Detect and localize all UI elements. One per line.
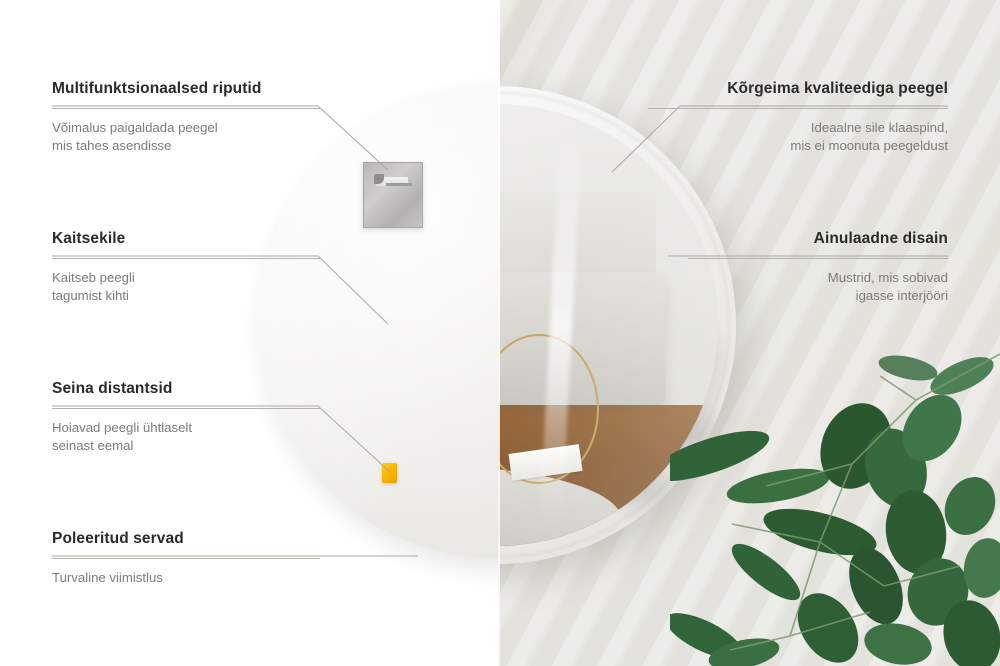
half-split-divider [498,0,500,666]
callout-body: Kaitseb peegli tagumist kihti [52,269,320,306]
callout-title: Multifunktsionaalsed riputid [52,80,320,99]
callout-ainulaadne-disain: Ainulaadne disain Mustrid, mis sobivad i… [688,230,948,306]
callout-body: Mustrid, mis sobivad igasse interjööri [688,269,948,306]
callout-multifunktsionaalsed-riputid: Multifunktsionaalsed riputid Võimalus pa… [52,80,320,156]
callout-body: Turvaline viimistlus [52,569,320,588]
infographic-canvas: Multifunktsionaalsed riputid Võimalus pa… [0,0,1000,666]
callout-title: Kõrgeima kvaliteediga peegel [648,80,948,99]
yellow-wall-spacer [382,463,397,483]
callout-korgeima-kvaliteediga-peegel: Kõrgeima kvaliteediga peegel Ideaalne si… [648,80,948,156]
callout-rule [52,258,320,259]
callout-body: Ideaalne sile klaaspind, mis ei moonuta … [648,119,948,156]
callout-rule [648,108,948,109]
mirror-back-sheen [258,86,498,558]
callout-poleeritud-servad: Poleeritud servad Turvaline viimistlus [52,530,320,587]
foliage-decoration [670,336,1000,666]
callout-seina-distantsid: Seina distantsid Hoiavad peegli ühtlasel… [52,380,320,456]
bracket-bar [386,183,412,186]
mirror-back-panel [258,86,498,558]
callout-title: Kaitsekile [52,230,320,249]
callout-title: Poleeritud servad [52,530,320,549]
callout-rule [52,558,320,559]
callout-title: Seina distantsid [52,380,320,399]
callout-rule [52,408,320,409]
callout-rule [688,258,948,259]
callout-kaitsekile: Kaitsekile Kaitseb peegli tagumist kihti [52,230,320,306]
callout-body: Võimalus paigaldada peegel mis tahes ase… [52,119,320,156]
callout-rule [52,108,320,109]
callout-title: Ainulaadne disain [688,230,948,249]
callout-body: Hoiavad peegli ühtlaselt seinast eemal [52,419,320,456]
mounting-bracket-plate [363,162,423,228]
